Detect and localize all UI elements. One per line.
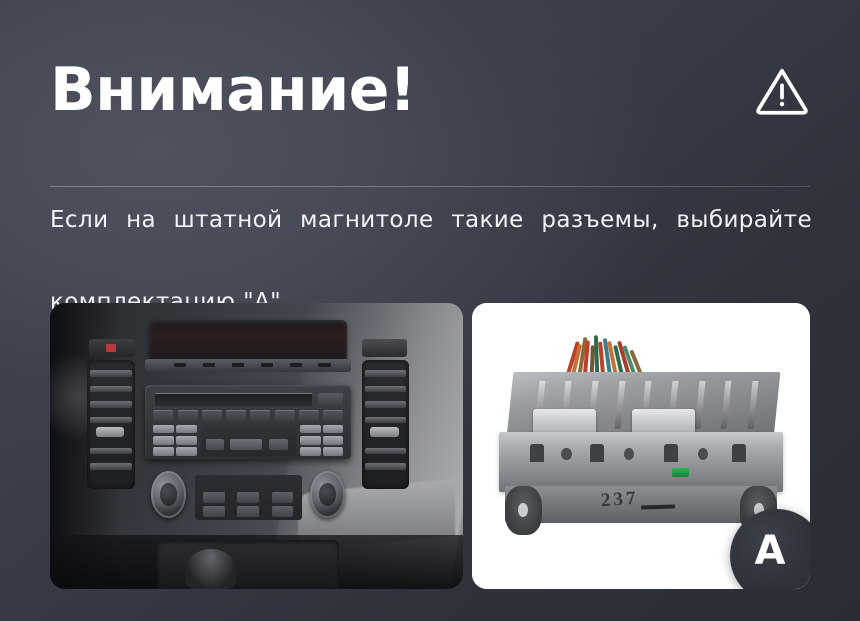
photo-head-unit-rear: 237 A — [472, 303, 810, 589]
radio-side-keys-left-inner — [176, 425, 197, 456]
center-console-well — [157, 540, 339, 589]
air-vent-left-knob — [96, 427, 124, 437]
gear-shifter — [186, 549, 236, 589]
cd-eject-button — [318, 393, 343, 406]
air-vent-left — [87, 360, 134, 489]
dashboard-upper-bin — [149, 320, 347, 363]
chassis-slot-1 — [530, 444, 544, 462]
climate-buttons — [195, 475, 302, 521]
hazard-button — [89, 339, 134, 358]
dashboard-image — [50, 303, 463, 589]
header: Внимание! — [50, 48, 810, 132]
chassis-hole-1 — [561, 448, 571, 460]
variant-badge-label: A — [755, 531, 786, 571]
chassis-slot-3 — [664, 444, 678, 462]
climate-knob-right — [310, 471, 345, 518]
handwritten-marking: 237 — [601, 488, 640, 513]
body-text-line-1: Если на штатной магнитоле такие разъемы,… — [50, 200, 812, 282]
chassis-hole-3 — [698, 448, 708, 460]
warning-triangle-icon — [754, 62, 810, 118]
warning-slide: Внимание! Если на штатной магнитоле таки… — [0, 0, 860, 621]
photo-dashboard — [50, 303, 463, 589]
photo-row: 237 A — [50, 303, 810, 589]
head-unit-rear-image: 237 — [499, 372, 783, 515]
head-unit-chassis-face — [499, 432, 783, 492]
chassis-slot-4 — [732, 444, 746, 462]
radio-side-keys-left-outer — [153, 425, 174, 456]
green-connector-clip — [672, 468, 689, 477]
mounting-tab-left — [505, 486, 542, 535]
radio-side-keys-right-outer — [323, 425, 344, 456]
aux-panel — [362, 339, 407, 358]
climate-control-panel — [145, 469, 352, 526]
head-unit-radio — [145, 385, 352, 459]
radio-side-keys-right-inner — [300, 425, 321, 456]
divider — [50, 186, 810, 187]
page-title: Внимание! — [50, 60, 416, 120]
cd-slot — [155, 393, 312, 406]
air-vent-right — [362, 360, 409, 489]
radio-button-row — [153, 410, 343, 421]
chassis-hole-2 — [624, 448, 634, 460]
chassis-slot-2 — [590, 444, 604, 462]
radio-display-panel — [201, 425, 296, 456]
climate-knob-left — [151, 471, 186, 518]
air-vent-right-knob — [370, 427, 398, 437]
dashboard-upper-bin-lip — [145, 359, 352, 372]
